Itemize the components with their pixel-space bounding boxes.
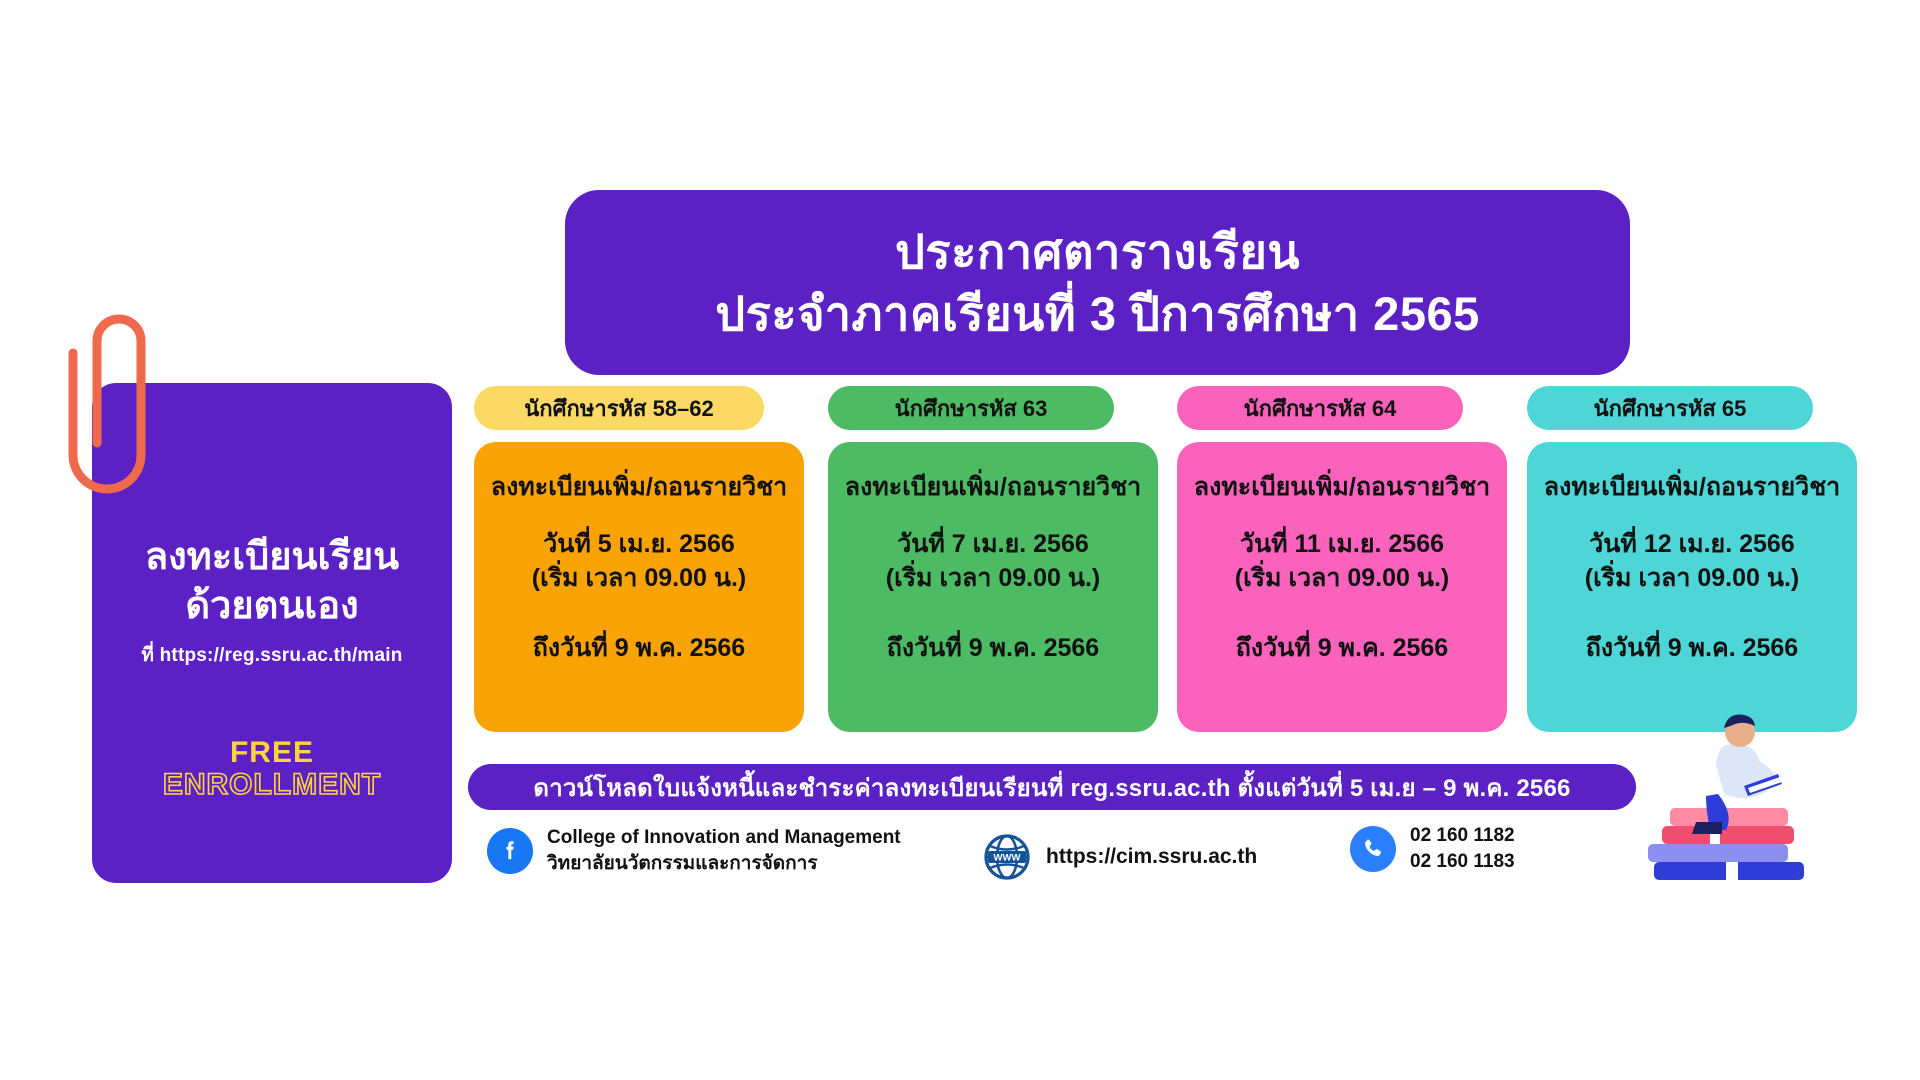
student-group-card-65: นักศึกษารหัส 65 ลงทะเบียนเพิ่ม/ถอนรายวิช… xyxy=(1527,386,1857,732)
facebook-name-th: วิทยาลัยนวัตกรรมและการจัดการ xyxy=(547,851,901,877)
card-date-start: วันที่ 12 เม.ย. 2566 xyxy=(1585,528,1799,562)
free-enrollment-badge: FREE ENROLLMENT xyxy=(163,738,381,800)
svg-text:WWW: WWW xyxy=(994,853,1021,864)
card-body-65: ลงทะเบียนเพิ่ม/ถอนรายวิชา วันที่ 12 เม.ย… xyxy=(1527,442,1857,732)
footer-facebook[interactable]: College of Innovation and Management วิท… xyxy=(487,825,901,876)
card-body-64: ลงทะเบียนเพิ่ม/ถอนรายวิชา วันที่ 11 เม.ย… xyxy=(1177,442,1507,732)
title-line-2: ประจำภาคเรียนที่ 3 ปีการศึกษา 2565 xyxy=(715,285,1480,342)
card-date-block: วันที่ 7 เม.ย. 2566 (เริ่ม เวลา 09.00 น.… xyxy=(886,528,1100,596)
title-banner: ประกาศตารางเรียน ประจำภาคเรียนที่ 3 ปีกา… xyxy=(565,190,1630,375)
card-date-block: วันที่ 12 เม.ย. 2566 (เริ่ม เวลา 09.00 น… xyxy=(1585,528,1799,596)
left-card-heading-line2: ด้วยตนเอง xyxy=(145,582,399,631)
card-date-time: (เริ่ม เวลา 09.00 น.) xyxy=(1585,562,1799,596)
paperclip-icon xyxy=(67,293,177,503)
card-date-end: ถึงวันที่ 9 พ.ค. 2566 xyxy=(1236,628,1448,668)
left-card-heading: ลงทะเบียนเรียน ด้วยตนเอง xyxy=(145,533,399,630)
payment-notice-text: ดาวน์โหลดใบแจ้งหนี้และชำระค่าลงทะเบียนเร… xyxy=(533,768,1570,807)
card-date-end: ถึงวันที่ 9 พ.ค. 2566 xyxy=(533,628,745,668)
phone-text-block: 02 160 1182 02 160 1183 xyxy=(1410,823,1515,874)
phone-icon[interactable] xyxy=(1350,826,1396,872)
card-date-block: วันที่ 5 เม.ย. 2566 (เริ่ม เวลา 09.00 น.… xyxy=(532,528,746,596)
card-date-start: วันที่ 5 เม.ย. 2566 xyxy=(532,528,746,562)
student-group-card-58-62: นักศึกษารหัส 58–62 ลงทะเบียนเพิ่ม/ถอนราย… xyxy=(474,386,804,732)
card-date-block: วันที่ 11 เม.ย. 2566 (เริ่ม เวลา 09.00 น… xyxy=(1235,528,1449,596)
footer-phone[interactable]: 02 160 1182 02 160 1183 xyxy=(1350,823,1515,874)
self-registration-card: ลงทะเบียนเรียน ด้วยตนเอง ที่ https://reg… xyxy=(92,383,452,883)
card-badge-64: นักศึกษารหัส 64 xyxy=(1177,386,1463,430)
facebook-name-en: College of Innovation and Management xyxy=(547,825,901,851)
card-badge-63: นักศึกษารหัส 63 xyxy=(828,386,1114,430)
card-title: ลงทะเบียนเพิ่ม/ถอนรายวิชา xyxy=(491,472,787,502)
card-body-63: ลงทะเบียนเพิ่ม/ถอนรายวิชา วันที่ 7 เม.ย.… xyxy=(828,442,1158,732)
left-card-heading-line1: ลงทะเบียนเรียน xyxy=(145,533,399,582)
facebook-text-block: College of Innovation and Management วิท… xyxy=(547,825,901,876)
footer-website[interactable]: WWW https://cim.ssru.ac.th xyxy=(982,832,1257,882)
card-badge-65: นักศึกษารหัส 65 xyxy=(1527,386,1813,430)
card-date-time: (เริ่ม เวลา 09.00 น.) xyxy=(532,562,746,596)
website-url[interactable]: https://cim.ssru.ac.th xyxy=(1046,845,1257,869)
student-group-card-64: นักศึกษารหัส 64 ลงทะเบียนเพิ่ม/ถอนรายวิช… xyxy=(1177,386,1507,732)
poster-canvas: ประกาศตารางเรียน ประจำภาคเรียนที่ 3 ปีกา… xyxy=(0,0,1920,1080)
facebook-icon[interactable] xyxy=(487,828,533,874)
enrollment-label: ENROLLMENT xyxy=(163,770,381,800)
title-line-1: ประกาศตารางเรียน xyxy=(895,223,1300,280)
student-reading-on-books-illustration xyxy=(1640,690,1890,900)
free-label: FREE xyxy=(163,738,381,768)
phone-number-1: 02 160 1182 xyxy=(1410,823,1515,849)
card-date-end: ถึงวันที่ 9 พ.ค. 2566 xyxy=(887,628,1099,668)
card-date-start: วันที่ 7 เม.ย. 2566 xyxy=(886,528,1100,562)
card-date-start: วันที่ 11 เม.ย. 2566 xyxy=(1235,528,1449,562)
card-date-end: ถึงวันที่ 9 พ.ค. 2566 xyxy=(1586,628,1798,668)
card-date-time: (เริ่ม เวลา 09.00 น.) xyxy=(1235,562,1449,596)
card-title: ลงทะเบียนเพิ่ม/ถอนรายวิชา xyxy=(1194,472,1490,502)
student-group-card-63: นักศึกษารหัส 63 ลงทะเบียนเพิ่ม/ถอนรายวิช… xyxy=(828,386,1158,732)
card-body-58-62: ลงทะเบียนเพิ่ม/ถอนรายวิชา วันที่ 5 เม.ย.… xyxy=(474,442,804,732)
card-title: ลงทะเบียนเพิ่ม/ถอนรายวิชา xyxy=(845,472,1141,502)
registration-url[interactable]: ที่ https://reg.ssru.ac.th/main xyxy=(141,640,402,670)
card-badge-58-62: นักศึกษารหัส 58–62 xyxy=(474,386,764,430)
globe-www-icon[interactable]: WWW xyxy=(982,832,1032,882)
payment-notice-bar: ดาวน์โหลดใบแจ้งหนี้และชำระค่าลงทะเบียนเร… xyxy=(468,764,1636,810)
card-title: ลงทะเบียนเพิ่ม/ถอนรายวิชา xyxy=(1544,472,1840,502)
phone-number-2: 02 160 1183 xyxy=(1410,849,1515,875)
card-date-time: (เริ่ม เวลา 09.00 น.) xyxy=(886,562,1100,596)
